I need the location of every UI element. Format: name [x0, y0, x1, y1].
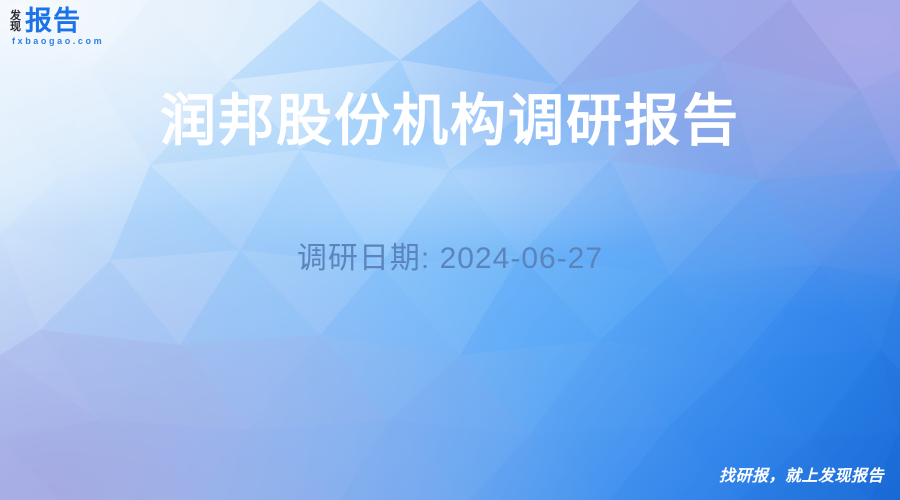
site-logo[interactable]: 发 现 报告: [10, 8, 81, 35]
footer-tagline: 找研报，就上发现报告: [719, 462, 884, 486]
survey-date-subtitle: 调研日期: 2024-06-27: [0, 233, 900, 277]
page-title: 润邦股份机构调研报告: [0, 88, 900, 154]
logo-mark-bottom: 现: [10, 22, 21, 33]
logo-mark: 发 现: [10, 8, 21, 33]
logo-wordmark: 报告: [25, 8, 81, 35]
report-cover: 发 现 报告 fxbaogao.com 润邦股份机构调研报告 调研日期: 202…: [0, 0, 900, 500]
logo-domain: fxbaogao.com: [12, 36, 104, 46]
